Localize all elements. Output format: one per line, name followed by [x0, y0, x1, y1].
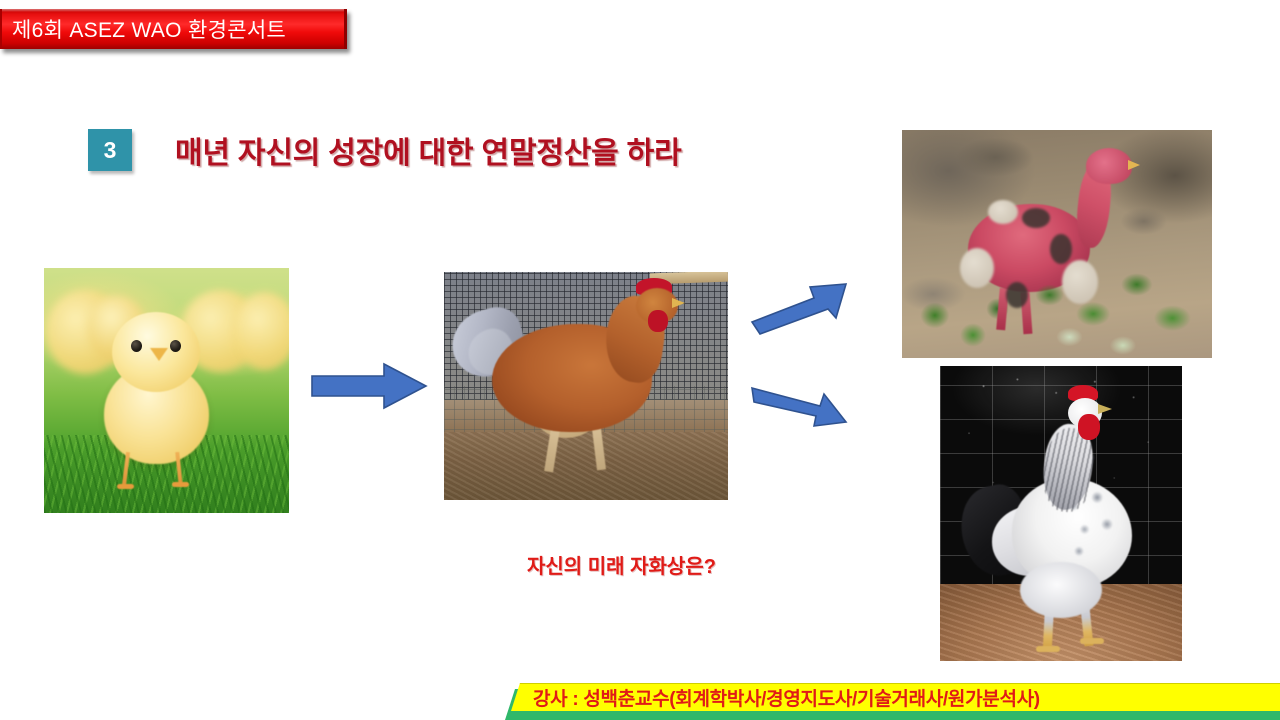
arrow-chick-to-rooster	[310, 358, 430, 419]
photo-brown-rooster	[444, 272, 728, 500]
event-title-text: 제6회 ASEZ WAO 환경콘서트	[12, 14, 286, 44]
photo-white-show-rooster	[940, 366, 1182, 661]
section-number-badge: 3	[88, 129, 132, 171]
white-rooster-beak	[1098, 404, 1112, 414]
slide-title-row: 3 매년 자신의 성장에 대한 연말정산을 하라	[88, 128, 681, 172]
background-chick-right-2	[234, 292, 289, 370]
brown-rooster-wattle	[648, 310, 668, 332]
featherless-fluff-top	[988, 200, 1018, 224]
photo-featherless-chicken	[902, 130, 1212, 358]
presenter-banner-body: 강사 : 성백춘교수(회계학박사/경영지도사/기술거래사/원가분석사)	[511, 683, 1280, 711]
chick-eye-right	[170, 340, 181, 352]
featherless-beak	[1128, 160, 1140, 170]
coop-dirt-ground	[444, 432, 728, 500]
chick-foot-left	[117, 484, 134, 489]
mid-caption: 자신의 미래 자화상은?	[527, 550, 716, 579]
brown-rooster-beak	[672, 298, 685, 308]
featherless-head	[1086, 148, 1132, 184]
presenter-banner: 강사 : 성백춘교수(회계학박사/경영지도사/기술거래사/원가분석사)	[505, 683, 1280, 720]
white-rooster-wattle	[1078, 414, 1100, 440]
event-title-banner: 제6회 ASEZ WAO 환경콘서트	[0, 9, 347, 49]
featherless-leaves-foreground	[1014, 253, 1212, 358]
chick-foot-right	[172, 482, 189, 487]
chick-eye-left	[131, 340, 142, 352]
white-rooster-underfluff	[1020, 562, 1102, 618]
photo-baby-chicks	[44, 268, 289, 513]
white-rooster-foot-left	[1036, 646, 1060, 652]
presenter-banner-text: 강사 : 성백춘교수(회계학박사/경영지도사/기술거래사/원가분석사)	[533, 684, 1040, 711]
featherless-fluff-left	[960, 248, 994, 288]
chick-beak	[150, 348, 168, 361]
featherless-dark-patch-1	[1022, 208, 1050, 228]
page-title: 매년 자신의 성장에 대한 연말정산을 하라	[175, 128, 681, 172]
arrow-to-white-rooster	[748, 378, 852, 439]
white-rooster-foot-right	[1080, 638, 1104, 644]
arrow-to-featherless	[748, 274, 852, 341]
